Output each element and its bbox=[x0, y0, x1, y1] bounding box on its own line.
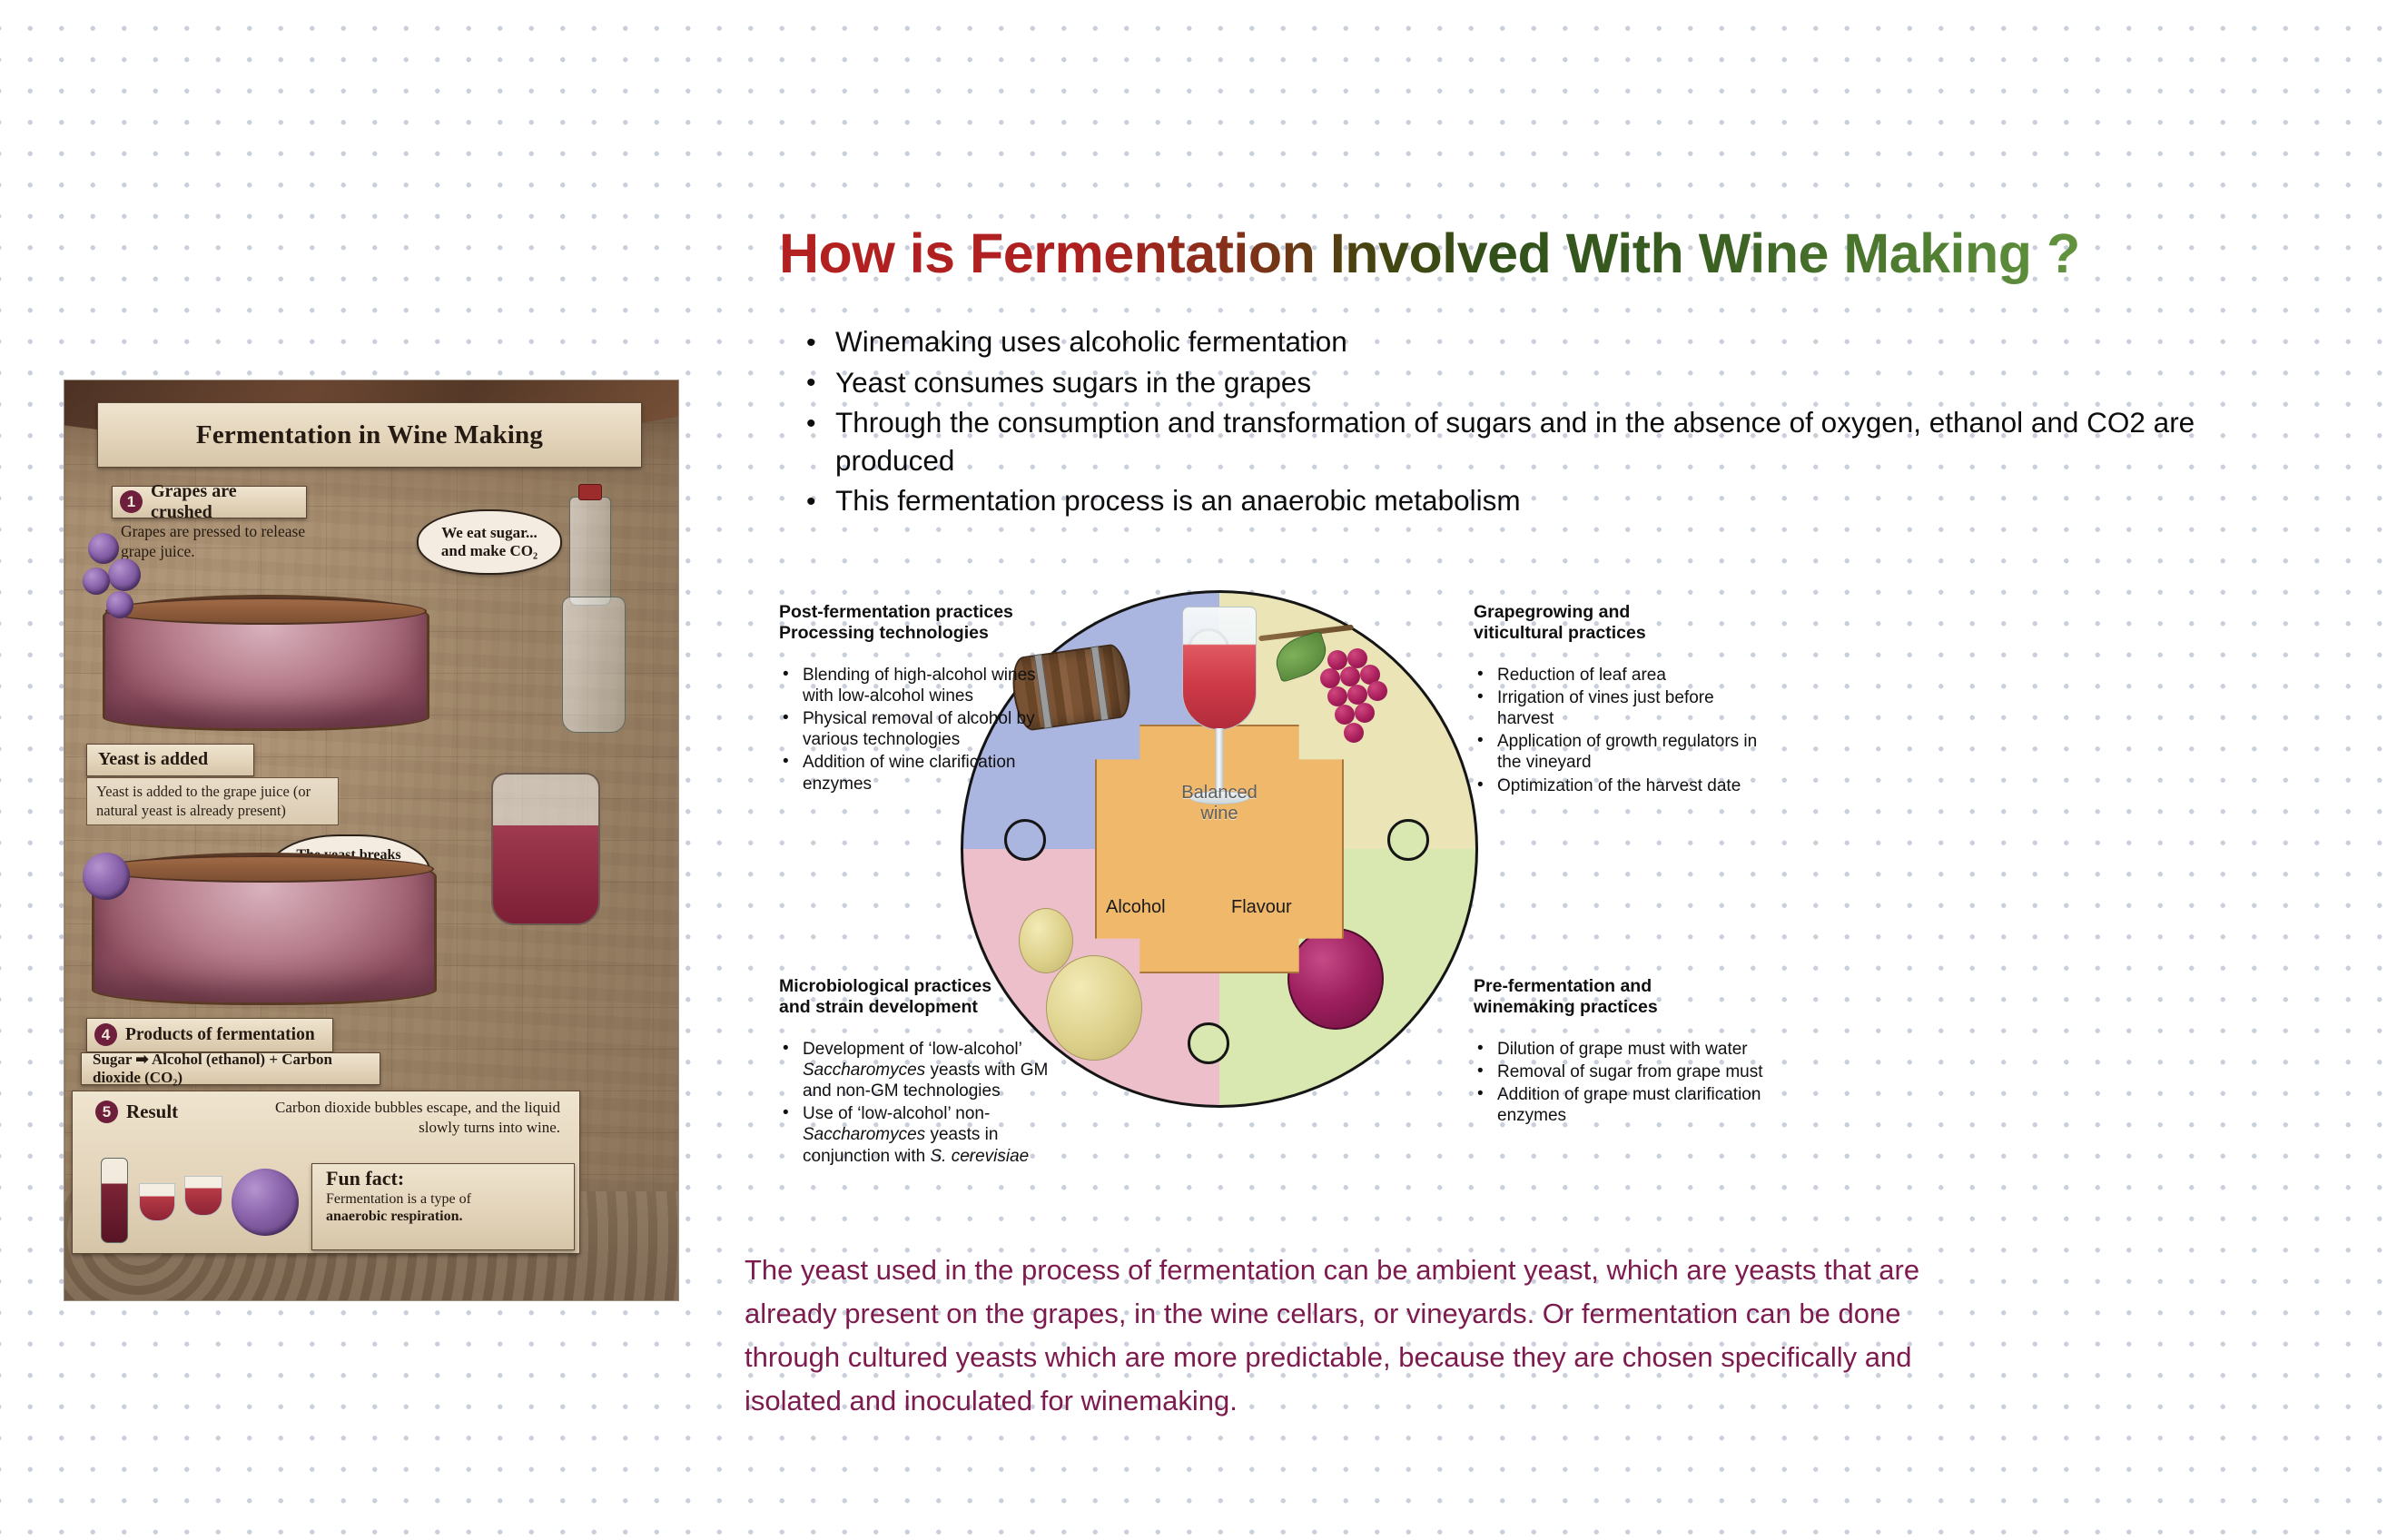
bullet-marker: • bbox=[806, 406, 816, 442]
poster-step-5-heading: 5 Result bbox=[88, 1098, 189, 1127]
glass-foot bbox=[1189, 791, 1249, 805]
caption-items: •Blending of high-alcohol wines with low… bbox=[779, 665, 1042, 795]
demijohn-icon bbox=[562, 597, 626, 733]
caption-heading: Microbiological practices and strain dev… bbox=[779, 976, 1070, 1019]
fun-fact-content: Fun fact: Fermentation is a type of anae… bbox=[326, 1167, 564, 1225]
step-number-badge: 1 bbox=[120, 490, 143, 513]
wine-glass-icon bbox=[139, 1183, 175, 1221]
caption-heading-line-1: Microbiological practices bbox=[779, 976, 1070, 997]
list-item: •Use of ‘low-alcohol’ non-Saccharomyces … bbox=[779, 1103, 1070, 1167]
list-item: •Application of growth regulators in the… bbox=[1474, 731, 1764, 773]
bullet-marker: • bbox=[783, 664, 789, 685]
slide-canvas: How is Fermentation Involved With Wine M… bbox=[0, 0, 2397, 1540]
speech-line: and make CO₂ bbox=[441, 542, 538, 560]
item-text: Dilution of grape must with water bbox=[1497, 1040, 1748, 1059]
list-item: •Irrigation of vines just before harvest bbox=[1474, 687, 1764, 729]
bullet-marker: • bbox=[783, 1038, 789, 1059]
fermentation-vat bbox=[92, 853, 437, 1005]
wine-glass-icon bbox=[184, 1176, 222, 1216]
grape-mascot-icon bbox=[232, 1169, 299, 1236]
caption-heading: Pre-fermentation and winemaking practice… bbox=[1474, 976, 1764, 1019]
poster-step-5-body: Carbon dioxide bubbles escape, and the l… bbox=[261, 1098, 560, 1138]
caption-post-fermentation: Post-fermentation practices Processing t… bbox=[779, 602, 1042, 796]
bullet-text: This fermentation process is an anaerobi… bbox=[835, 484, 1521, 517]
poster-step-1-heading: 1 Grapes are crushed bbox=[112, 486, 307, 518]
item-text: Optimization of the harvest date bbox=[1497, 776, 1741, 795]
poster-step-2-body: Yeast is added to the grape juice (or na… bbox=[86, 777, 339, 825]
list-item: •Winemaking uses alcoholic fermentation bbox=[803, 323, 2292, 361]
bullet-marker: • bbox=[1477, 775, 1484, 795]
list-item: •Dilution of grape must with water bbox=[1474, 1039, 1764, 1060]
crushing-vat bbox=[103, 595, 429, 731]
bullet-marker: • bbox=[783, 707, 789, 728]
caption-pre-fermentation: Pre-fermentation and winemaking practice… bbox=[1474, 976, 1764, 1128]
item-text: Irrigation of vines just before harvest bbox=[1497, 688, 1714, 728]
bullet-marker: • bbox=[806, 365, 816, 401]
grape-icon bbox=[83, 853, 130, 900]
poster-step-4-equation: Sugar ➡ Alcohol (ethanol) + Carbon dioxi… bbox=[81, 1052, 380, 1085]
glass-bowl bbox=[1182, 607, 1257, 730]
list-item: •Development of ‘low-alcohol’ Saccharomy… bbox=[779, 1039, 1070, 1102]
vat-rim bbox=[94, 855, 434, 883]
bullet-marker: • bbox=[1477, 664, 1484, 685]
fermentation-infographic-image: Fermentation in Wine Making 1 Grapes are… bbox=[64, 380, 679, 1301]
item-text: Addition of grape must clarification enz… bbox=[1497, 1085, 1761, 1125]
caption-heading-line-2: winemaking practices bbox=[1474, 997, 1764, 1018]
grape-icon bbox=[83, 568, 110, 595]
caption-microbiological: Microbiological practices and strain dev… bbox=[779, 976, 1070, 1169]
caption-grapegrowing: Grapegrowing and viticultural practices … bbox=[1474, 602, 1764, 798]
list-item: •Physical removal of alcohol by various … bbox=[779, 708, 1042, 750]
list-item: •Addition of grape must clarification en… bbox=[1474, 1084, 1764, 1126]
bullet-text: Winemaking uses alcoholic fermentation bbox=[835, 325, 1347, 358]
caption-items: •Reduction of leaf area •Irrigation of v… bbox=[1474, 665, 1764, 796]
list-item: •This fermentation process is an anaerob… bbox=[803, 482, 2292, 520]
list-item: •Optimization of the harvest date bbox=[1474, 775, 1764, 796]
glass-stem bbox=[1216, 728, 1224, 794]
balanced-wine-puzzle-diagram: Balanced wine Alcohol Flavour Post-ferme… bbox=[770, 595, 1805, 1212]
step-heading-text: Grapes are crushed bbox=[151, 481, 295, 523]
caption-heading-line-1: Grapegrowing and bbox=[1474, 602, 1764, 623]
fermentation-flask-icon bbox=[569, 497, 611, 606]
grape-icon bbox=[108, 558, 141, 591]
poster-step-4-heading: 4 Products of fermentation bbox=[86, 1018, 333, 1052]
item-text: Development of ‘low-alcohol’ Saccharomyc… bbox=[803, 1040, 1048, 1101]
closing-paragraph: The yeast used in the process of ferment… bbox=[745, 1249, 1961, 1423]
list-item: •Yeast consumes sugars in the grapes bbox=[803, 364, 2292, 402]
list-item: •Reduction of leaf area bbox=[1474, 665, 1764, 686]
bullet-list: •Winemaking uses alcoholic fermentation … bbox=[803, 323, 2292, 523]
list-item: •Blending of high-alcohol wines with low… bbox=[779, 665, 1042, 706]
bullet-marker: • bbox=[1477, 686, 1484, 707]
wine-glass-icon bbox=[1179, 607, 1260, 817]
bullet-marker: • bbox=[783, 1102, 789, 1123]
caption-items: •Dilution of grape must with water •Remo… bbox=[1474, 1039, 1764, 1127]
puzzle-knob-left bbox=[1004, 819, 1046, 861]
grape-icon bbox=[88, 533, 119, 564]
step-number-badge: 5 bbox=[95, 1101, 118, 1123]
bullet-text: Through the consumption and transformati… bbox=[835, 406, 2195, 477]
item-text: Addition of wine clarification enzymes bbox=[803, 753, 1015, 793]
bottle-cap-icon bbox=[578, 484, 602, 500]
caption-heading-line-2: Processing technologies bbox=[779, 623, 1042, 644]
step-number-badge: 4 bbox=[94, 1023, 117, 1046]
fun-fact-line-2: anaerobic respiration. bbox=[326, 1208, 564, 1225]
poster-step-1-body: Grapes are pressed to release grape juic… bbox=[121, 522, 311, 562]
step-heading-text: Yeast is added bbox=[98, 749, 208, 770]
wine-jug-icon bbox=[491, 773, 600, 925]
caption-heading-line-2: and strain development bbox=[779, 997, 1070, 1018]
bullet-marker: • bbox=[783, 751, 789, 772]
caption-heading-line-2: viticultural practices bbox=[1474, 623, 1764, 644]
list-item: •Through the consumption and transformat… bbox=[803, 404, 2292, 479]
poster-step-2-heading: Yeast is added bbox=[86, 744, 254, 776]
bullet-marker: • bbox=[806, 484, 816, 520]
caption-heading: Grapegrowing and viticultural practices bbox=[1474, 602, 1764, 645]
caption-heading-line-1: Post-fermentation practices bbox=[779, 602, 1042, 623]
poster-title-banner: Fermentation in Wine Making bbox=[97, 402, 642, 468]
item-text: Reduction of leaf area bbox=[1497, 666, 1666, 685]
list-item: •Removal of sugar from grape must bbox=[1474, 1061, 1764, 1082]
item-text: Application of growth regulators in the … bbox=[1497, 732, 1757, 772]
item-text: Removal of sugar from grape must bbox=[1497, 1062, 1763, 1081]
caption-heading-line-1: Pre-fermentation and bbox=[1474, 976, 1764, 997]
fun-fact-label: Fun fact: bbox=[326, 1167, 564, 1190]
page-title: How is Fermentation Involved With Wine M… bbox=[779, 222, 2323, 284]
grape-berry-icon bbox=[1287, 928, 1384, 1030]
bullet-marker: • bbox=[1477, 1083, 1484, 1104]
puzzle-knob-bottom bbox=[1188, 1022, 1229, 1064]
bullet-marker: • bbox=[806, 325, 816, 361]
puzzle-knob-right bbox=[1387, 819, 1429, 861]
bullet-text: Yeast consumes sugars in the grapes bbox=[835, 366, 1311, 399]
step-heading-text: Result bbox=[126, 1101, 178, 1123]
step-heading-text: Products of fermentation bbox=[125, 1025, 315, 1045]
alcohol-label: Alcohol bbox=[1106, 897, 1166, 918]
item-text: Use of ‘low-alcohol’ non-Saccharomyces y… bbox=[803, 1104, 1029, 1165]
speech-line: We eat sugar... bbox=[441, 524, 538, 542]
bullet-marker: • bbox=[1477, 1061, 1484, 1081]
vat-rim bbox=[105, 597, 427, 625]
speech-bubble-grape: We eat sugar... and make CO₂ bbox=[417, 509, 562, 575]
bullet-marker: • bbox=[1477, 730, 1484, 751]
caption-items: •Development of ‘low-alcohol’ Saccharomy… bbox=[779, 1039, 1070, 1167]
list-item: •Addition of wine clarification enzymes bbox=[779, 752, 1042, 794]
item-text: Blending of high-alcohol wines with low-… bbox=[803, 666, 1036, 706]
item-text: Physical removal of alcohol by various t… bbox=[803, 709, 1035, 749]
bullet-marker: • bbox=[1477, 1038, 1484, 1059]
flavour-label: Flavour bbox=[1231, 897, 1458, 918]
grape-icon bbox=[106, 591, 133, 618]
wine-bottle-icon bbox=[101, 1158, 128, 1243]
caption-heading: Post-fermentation practices Processing t… bbox=[779, 602, 1042, 645]
fun-fact-line-1: Fermentation is a type of bbox=[326, 1190, 564, 1208]
